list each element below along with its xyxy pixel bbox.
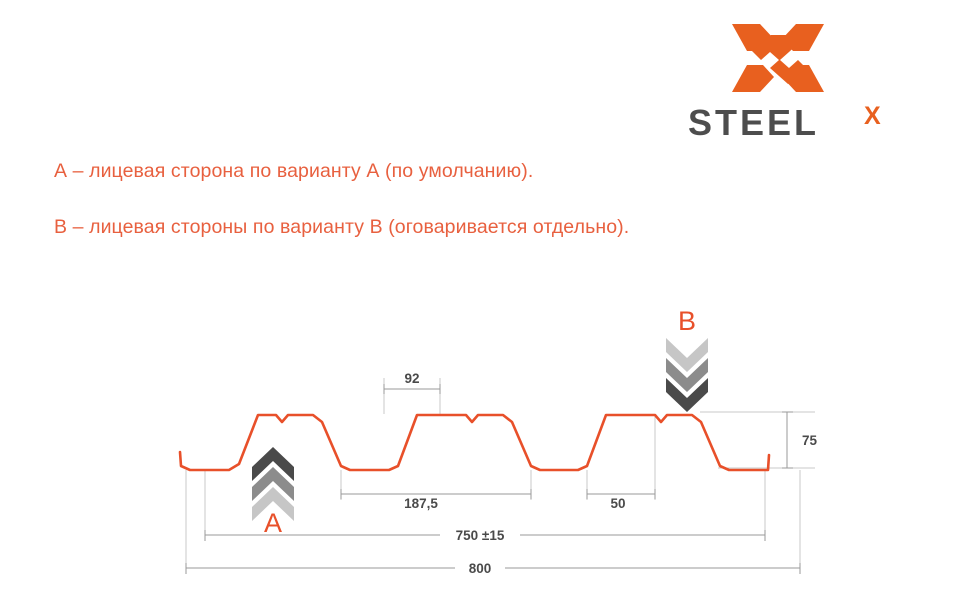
dimension-label-92: 92	[404, 371, 419, 386]
profile-technical-drawing: 92 187,5 50 750 ±15 800 75	[0, 0, 970, 597]
side-marker-a-label: A	[264, 508, 282, 538]
dimension-label-800: 800	[469, 561, 492, 576]
dimension-rib-crown-width: 92	[384, 371, 440, 394]
dimension-label-75: 75	[802, 433, 818, 448]
dimension-overall-width: 800	[186, 561, 800, 576]
side-marker-b-label: B	[678, 306, 696, 336]
side-marker-b: B	[666, 306, 708, 412]
side-marker-a: A	[252, 447, 294, 538]
dimension-valley-width: 50	[587, 489, 655, 511]
dimension-effective-width: 750 ±15	[205, 528, 765, 543]
dimension-rib-pitch: 187,5	[341, 489, 531, 511]
dimension-label-187-5: 187,5	[404, 496, 438, 511]
dimension-profile-height: 75	[782, 412, 818, 468]
dimension-label-50: 50	[610, 496, 625, 511]
dimension-label-750: 750 ±15	[456, 528, 505, 543]
